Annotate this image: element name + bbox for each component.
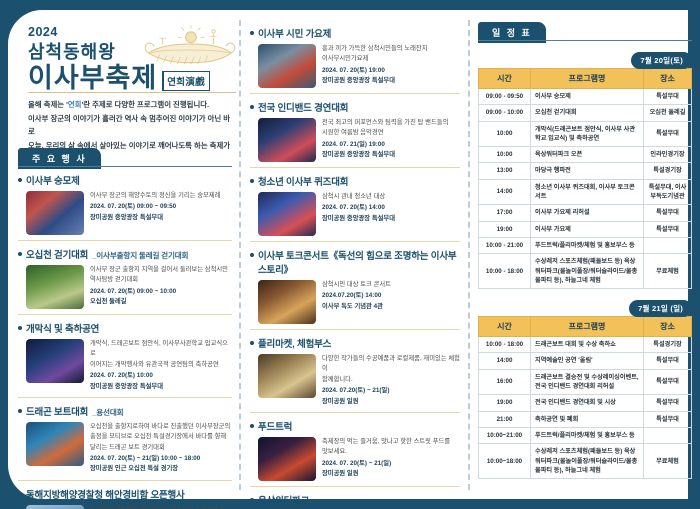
schedule-place: 특설무대 — [644, 411, 692, 427]
schedule-col-header: 장소 — [644, 317, 692, 337]
event-thumbnail[interactable] — [258, 280, 316, 324]
event-datetime: 2024. 07. 20(토) 10:00 — [90, 371, 232, 381]
festival-brochure-page: 2024 삼척동해왕 이사부축제 연희演戲 올해 축제는 '연희'란 주제로 다… — [0, 0, 700, 509]
schedule-day: 7월 21일 (일) 시간프로그램명장소 10:00 - 18:00 드래곤보트… — [478, 298, 692, 479]
schedule-header-row: 시간프로그램명장소 — [479, 317, 692, 337]
schedule-program: 마당극 행파전 — [531, 163, 644, 179]
schedule-place: 무료체험 — [644, 254, 692, 289]
event-title: 플리마켓, 체험부스 — [258, 336, 331, 350]
schedule-row: 14:00 지역예술인 공연 '울림' 특설무대 — [479, 353, 692, 369]
event-item[interactable]: 오십천 걷기대회 _이사부출항지 둘레길 걷기대회 이사부 장군 출항지 지역을… — [18, 241, 232, 315]
festival-subtitle: 삼척동해왕 — [28, 41, 238, 64]
schedule-time: 10:00 - 18:00 — [479, 254, 531, 289]
bullet-icon — [18, 326, 22, 330]
bullet-icon — [18, 409, 22, 413]
event-location: 장미공원 중앙광장 특설무대 — [90, 382, 232, 392]
main-events-column-left: 주 요 행 사 이사부 숭모제 이사부 장군의 해양수토의 정신을 기리는 숭모… — [18, 148, 232, 509]
schedule-place: 특설무대 — [644, 121, 692, 147]
schedule-program: 개막식(드래곤보트 점안식, 이사부 사관학교 입교식) 및 축하공연 — [531, 121, 644, 147]
event-title: 전국 인디밴드 경연대회 — [258, 100, 348, 114]
schedule-time: 10:00~18:00 — [479, 444, 531, 479]
event-thumbnail[interactable] — [26, 339, 84, 383]
schedule-header-row: 시간프로그램명장소 — [479, 69, 692, 89]
schedule-table: 시간프로그램명장소 09:00 - 09:50 이사부 숭모제 특설무대 09:… — [478, 68, 692, 289]
schedule-time: 21:00 — [479, 411, 531, 427]
event-datetime: 2024. 07. 20(토) 14:00 — [322, 203, 460, 213]
schedule-column: 일 정 표 7월 20일(토) 시간프로그램명장소 09:00 - 09:50 … — [478, 22, 692, 479]
event-description-line: 역사탐방 걷기대회 — [90, 275, 232, 285]
event-thumbnail[interactable] — [26, 265, 84, 309]
event-description-line: 맛보세요. — [322, 447, 460, 457]
schedule-row: 10:00 육상워터파크 오픈 인라인경기장 — [479, 147, 692, 163]
schedule-program: 오십천 걷기대회 — [531, 105, 644, 121]
main-events-column-mid: 이사부 시민 가요제 흥과 끼가 가득한 삼척시민들의 노래잔치이사부시민가요제… — [250, 20, 460, 509]
schedule-place: 오십천 둘레길 — [644, 105, 692, 121]
schedule-row: 10:00~18:00 수상레저 스포츠체험(패들보드 등) 육상워터파크(물놀… — [479, 444, 692, 479]
event-item[interactable]: 플리마켓, 체험부스 다양한 작가들의 수공예품과 로컬제품, 재미있는 체험이… — [250, 330, 460, 413]
event-thumbnail[interactable] — [258, 44, 316, 88]
bullet-icon — [18, 252, 22, 256]
event-list-left: 이사부 숭모제 이사부 장군의 해양수토의 정신을 기리는 숭모제례 2024.… — [18, 167, 232, 509]
intro-highlight: 연희 — [68, 100, 82, 109]
event-thumbnail[interactable] — [26, 422, 84, 466]
schedule-row: 10:00 개막식(드래곤보트 점안식, 이사부 사관학교 입교식) 및 축하공… — [479, 121, 692, 147]
event-datetime: 2024. 07. 20(토) ~ 21(일) — [322, 459, 460, 469]
event-description-line: 삼척시 관내 청소년 대상 — [322, 192, 460, 202]
schedule-table: 시간프로그램명장소 10:00 - 18:00 드래곤보트 대회 및 수상 축하… — [478, 316, 692, 479]
schedule-col-header: 시간 — [479, 69, 531, 89]
schedule-program: 전국 인디밴드 경연대회 및 시상 — [531, 395, 644, 411]
event-thumbnail[interactable] — [26, 191, 84, 235]
schedule-time: 10:00 - 21:00 — [479, 237, 531, 253]
schedule-col-header: 프로그램명 — [531, 69, 644, 89]
event-location: 오십천 둘레길 — [90, 297, 232, 307]
schedule-time: 10:00 — [479, 121, 531, 147]
schedule-row: 14:00 청소년 이사부 퀴즈대회, 이사부 토크콘서트 특설무대, 이사부독… — [479, 179, 692, 205]
event-datetime: 2024. 07.20(토) ~ 21(일) — [322, 386, 460, 396]
schedule-program: 수상레저 스포츠체험(패들보드 등) 육상워터파크(물놀이풀장/워터슬라이드/물… — [531, 254, 644, 289]
schedule-time: 09:00 - 09:50 — [479, 89, 531, 105]
event-datetime: 2024.07.20(토) 14:00 — [322, 291, 460, 301]
event-thumbnail[interactable] — [258, 437, 316, 481]
main-events-rule — [18, 166, 232, 168]
event-title: 이사부 시민 가요제 — [258, 26, 331, 40]
intro-line2: 이사부 장군의 이야기가 흘러간 역사 속 멈추어진 이야기가 아닌 바로 — [28, 112, 236, 139]
festival-year: 2024 — [28, 26, 238, 40]
schedule-time: 10:00 — [479, 147, 531, 163]
schedule-row: 10:00 - 18:00 드래곤보트 대회 및 수상 축하쇼 특설경기장 — [479, 337, 692, 353]
bullet-icon — [250, 341, 254, 345]
event-location: 장미공원 중앙광장 특설무대 — [322, 150, 460, 160]
event-title: 이사부 숭모제 — [26, 173, 80, 187]
schedule-row: 21:00 축하공연 및 폐회 특설무대 — [479, 411, 692, 427]
schedule-time: 10:00 - 18:00 — [479, 337, 531, 353]
event-description-line: 출정을 모티브로 오십천 특설경기장에서 바다를 향해 — [90, 432, 232, 442]
event-description-line: 이사부 장군 출항지 지역을 걸어서 둘러보는 삼척시민 — [90, 265, 232, 275]
event-location: 장미공원 중앙광장 특설무대 — [322, 76, 460, 86]
schedule-program: 푸드트럭/플리마켓/체험 및 홍보부스 등 — [531, 237, 644, 253]
schedule-time: 13:00 — [479, 163, 531, 179]
column-divider-2 — [468, 20, 470, 490]
event-item[interactable]: 전국 인디밴드 경연대회 전국 최고의 퍼포먼스와 팀력을 가진 탑 밴드들의시… — [250, 94, 460, 168]
schedule-date-badge: 7월 20일(토) — [631, 52, 692, 69]
intro-divider — [28, 92, 236, 93]
event-description-line: 다양한 작가들의 수공예품과 로컬제품, 재미있는 체험이 — [322, 354, 460, 375]
event-title: 이사부 토크콘서트《독선의 힘으로 조명하는 이사부 스토리》 — [258, 248, 460, 276]
schedule-program: 푸드트럭/플리마켓/체험 및 홍보부스 등 — [531, 427, 644, 443]
event-location: 장미공원 일원 — [322, 469, 460, 479]
event-description-line: 이어지는 개막행사와 유관국적 공연팀의 축하공연 — [90, 360, 232, 370]
schedule-row: 17:00 이사부 가요제 리허설 특설무대 — [479, 205, 692, 221]
event-location: 장미공원 인근 오십천 특설 경기장 — [90, 464, 232, 474]
schedule-program: 드래곤보트 대회 및 수상 축하쇼 — [531, 337, 644, 353]
column-divider-1 — [239, 20, 241, 490]
event-description-line: 전국 최고의 퍼포먼스와 팀력을 가진 탑 밴드들의 — [322, 118, 460, 128]
intro-line1-post: '란 주제로 다양한 프로그램이 진행됩니다. — [81, 100, 209, 109]
schedule-place — [644, 237, 692, 253]
event-description-line: 시원한 여름밤 음악경연 — [322, 128, 460, 138]
schedule-program: 이사부 가요제 — [531, 221, 644, 237]
schedule-place: 특설무대 — [644, 89, 692, 105]
event-thumbnail[interactable] — [26, 505, 84, 509]
schedule-place: 특설경기장 — [644, 337, 692, 353]
schedule-program: 육상워터파크 오픈 — [531, 147, 644, 163]
bullet-icon — [250, 179, 254, 183]
event-thumbnail[interactable] — [258, 118, 316, 162]
event-description-line: 함께합니다. — [322, 375, 460, 385]
schedule-place: 특설무대 — [644, 221, 692, 237]
event-item[interactable]: 이사부 토크콘서트《독선의 힘으로 조명하는 이사부 스토리》 삼척시민 대상 … — [250, 242, 460, 330]
bullet-icon — [250, 498, 254, 502]
schedule-row: 19:00 전국 인디밴드 경연대회 및 시상 특설무대 — [479, 395, 692, 411]
schedule-place: 특설무대 — [644, 353, 692, 369]
schedule-place: 특설무대 — [644, 205, 692, 221]
event-description-line: 삼척시민 대상 토크 콘서트 — [322, 280, 460, 290]
schedule-place: 특설무대 — [644, 369, 692, 395]
festival-title-block: 2024 삼척동해왕 이사부축제 연희演戲 — [28, 26, 238, 94]
event-location: 이사부 독도 기념관 4관 — [322, 302, 460, 312]
schedule-place: 특설무대 — [644, 395, 692, 411]
schedule-row: 09:00 - 09:50 이사부 숭모제 특설무대 — [479, 89, 692, 105]
schedule-place: 특설무대, 이사부독도기념관 — [644, 179, 692, 205]
event-item[interactable]: 이사부 숭모제 이사부 장군의 해양수토의 정신을 기리는 숭모제례 2024.… — [18, 167, 232, 241]
event-title-sub: _이사부출항지 둘레길 걷기대회 — [92, 250, 188, 261]
schedule-program: 지역예술인 공연 '울림' — [531, 353, 644, 369]
event-datetime: 2024. 07. 20(토) 09:00 ~ 10:00 — [90, 287, 232, 297]
bullet-icon — [18, 492, 22, 496]
schedule-row: 16:00 드래곤보트 결승전 및 수상레이싱이벤트, 전국 인디밴드 경연대회… — [479, 369, 692, 395]
schedule-header: 일 정 표 — [478, 22, 692, 41]
bullet-icon — [250, 105, 254, 109]
event-datetime: 2024. 07. 21(일) 19:00 — [322, 140, 460, 150]
schedule-place: 인라인경기장 — [644, 147, 692, 163]
event-datetime: 2024. 07. 20(토) 09:00 ~ 09:50 — [90, 202, 232, 212]
festival-title: 이사부축제 — [28, 64, 157, 94]
schedule-place: 특설경기장 — [644, 163, 692, 179]
event-description-line: 축제장의 먹는 즐거움, 맛나고 핫한 스트릿 푸드를 — [322, 437, 460, 447]
schedule-row: 10:00~21:00 푸드트럭/플리마켓/체험 및 홍보부스 등 — [479, 427, 692, 443]
schedule-day: 7월 20일(토) 시간프로그램명장소 09:00 - 09:50 이사부 숭모… — [478, 50, 692, 289]
event-description-line: 흥과 끼가 가득한 삼척시민들의 노래잔치 — [322, 44, 460, 54]
event-title: 청소년 이사부 퀴즈대회 — [258, 174, 348, 188]
schedule-program: 이사부 숭모제 — [531, 89, 644, 105]
main-events-header: 주 요 행 사 — [18, 148, 232, 167]
schedule-col-header: 시간 — [479, 317, 531, 337]
intro-line1-pre: 올해 축제는 ' — [28, 100, 68, 109]
event-location: 장미공원 일원 — [322, 397, 460, 407]
event-datetime: 2024. 07. 20(토) ~ 21(일) 10:00 ~ 18:00 — [90, 454, 232, 464]
schedule-time: 14:00 — [479, 353, 531, 369]
event-item[interactable]: 개막식 및 축하공연 개막식, 드래곤보트 점안식, 이사부사관학교 입교식으로… — [18, 315, 232, 398]
schedule-program: 이사부 가요제 리허설 — [531, 205, 644, 221]
event-item[interactable]: 이사부 시민 가요제 흥과 끼가 가득한 삼척시민들의 노래잔치이사부시민가요제… — [250, 20, 460, 94]
schedule-tables: 7월 20일(토) 시간프로그램명장소 09:00 - 09:50 이사부 숭모… — [478, 50, 692, 479]
schedule-program: 청소년 이사부 퀴즈대회, 이사부 토크콘서트 — [531, 179, 644, 205]
event-title: 동해지방해양경찰청 해안경비함 오픈행사 — [26, 487, 185, 501]
event-title: 푸드트럭 — [258, 419, 292, 433]
schedule-row: 13:00 마당극 행파전 특설경기장 — [479, 163, 692, 179]
event-title: 오십천 걷기대회 — [26, 247, 88, 261]
bullet-icon — [250, 31, 254, 35]
schedule-date-badge: 7월 21일 (일) — [629, 300, 692, 317]
schedule-row: 10:00 - 18:00 수상레저 스포츠체험(패들보드 등) 육상워터파크(… — [479, 254, 692, 289]
event-item[interactable]: 푸드트럭 축제장의 먹는 즐거움, 맛나고 핫한 스트릿 푸드를맛보세요. 20… — [250, 413, 460, 487]
schedule-time: 10:00~21:00 — [479, 427, 531, 443]
schedule-col-header: 프로그램명 — [531, 317, 644, 337]
event-description-line: 개막식, 드래곤보트 점안식, 이사부사관학교 입교식으로 — [90, 339, 232, 360]
event-location: 장미공원 중앙광장 특설무대 — [90, 213, 232, 223]
event-datetime: 2024. 07. 20(토) 19:00 — [322, 66, 460, 76]
schedule-time: 19:00 — [479, 221, 531, 237]
event-description-line: 오십천을 출항지로하여 바다로 진출했던 이사부장군의 — [90, 422, 232, 432]
event-item[interactable]: 청소년 이사부 퀴즈대회 삼척시 관내 청소년 대상 2024. 07. 20(… — [250, 168, 460, 242]
schedule-program: 축하공연 및 폐회 — [531, 411, 644, 427]
event-item[interactable]: 드래곤 보트대회 _용선대회 오십천을 출항지로하여 바다로 진출했던 이사부장… — [18, 398, 232, 481]
schedule-time: 19:00 — [479, 395, 531, 411]
schedule-col-header: 장소 — [644, 69, 692, 89]
schedule-program: 수상레저 스포츠체험(패들보드 등) 육상워터파크(물놀이풀장/워터슬라이드/물… — [531, 444, 644, 479]
bullet-icon — [250, 253, 254, 257]
event-title: 개막식 및 축하공연 — [26, 321, 99, 335]
schedule-row: 19:00 이사부 가요제 특설무대 — [479, 221, 692, 237]
event-thumbnail[interactable] — [258, 192, 316, 236]
schedule-program: 드래곤보트 결승전 및 수상레이싱이벤트, 전국 인디밴드 경연대회 리허설 — [531, 369, 644, 395]
festival-theme-badge: 연희演戲 — [162, 71, 210, 91]
event-title: 육상워터파크 — [258, 493, 309, 507]
event-thumbnail[interactable] — [258, 354, 316, 398]
event-list-mid: 이사부 시민 가요제 흥과 끼가 가득한 삼척시민들의 노래잔치이사부시민가요제… — [250, 20, 460, 509]
event-item[interactable]: 육상워터파크 워터슬라이드와 함께하는 대형 워터풀이 무료로운영됩니다. 20… — [250, 487, 460, 509]
bullet-icon — [18, 178, 22, 182]
event-item[interactable]: 동해지방해양경찰청 해안경비함 오픈행사 삼척항에 정박중인 해양경찰의 경비함… — [18, 481, 232, 509]
schedule-time: 17:00 — [479, 205, 531, 221]
schedule-time: 09:00 - 10:00 — [479, 105, 531, 121]
bullet-icon — [250, 424, 254, 428]
event-description-line: 달리는 드래곤 보트 경기대회 — [90, 443, 232, 453]
event-description-line: 삼척항에 정박중인 해양경찰의 경비함을 시민들에게 — [90, 505, 232, 509]
event-description-line: 이사부시민가요제 — [322, 54, 460, 64]
schedule-place — [644, 427, 692, 443]
schedule-time: 16:00 — [479, 369, 531, 395]
schedule-time: 14:00 — [479, 179, 531, 205]
schedule-rule — [478, 40, 692, 42]
event-title: 드래곤 보트대회 — [26, 404, 88, 418]
event-title-sub: _용선대회 — [92, 407, 123, 418]
event-description-line: 이사부 장군의 해양수토의 정신을 기리는 숭모제례 — [90, 191, 232, 201]
event-location: 장미공원 중앙광장 특설무대 — [322, 214, 460, 224]
schedule-place: 무료체험 — [644, 444, 692, 479]
schedule-row: 10:00 - 21:00 푸드트럭/플리마켓/체험 및 홍보부스 등 — [479, 237, 692, 253]
schedule-row: 09:00 - 10:00 오십천 걷기대회 오십천 둘레길 — [479, 105, 692, 121]
